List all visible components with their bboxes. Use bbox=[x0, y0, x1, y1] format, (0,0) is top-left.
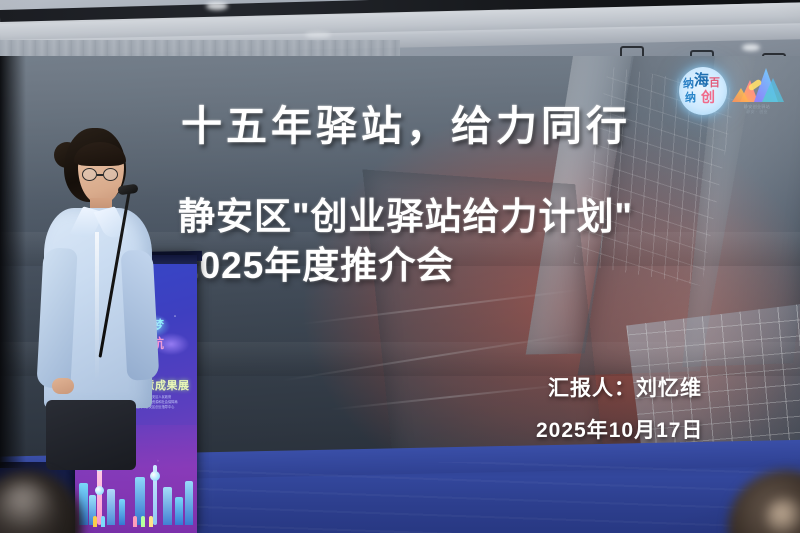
tv-tower-sphere bbox=[95, 486, 104, 495]
city-figure bbox=[141, 516, 145, 527]
trousers bbox=[46, 400, 136, 470]
speaker-person bbox=[18, 128, 158, 468]
slide-presenter-label: 汇报人：刘忆维 bbox=[548, 372, 702, 402]
ceiling bbox=[0, 0, 800, 58]
hainabaichuang-circle-logo: 纳 海 百 纳 创 bbox=[679, 67, 727, 115]
city-building bbox=[163, 487, 172, 525]
city-figure bbox=[93, 516, 97, 527]
circle-logo-chars: 纳 海 百 纳 创 bbox=[679, 67, 727, 115]
mast-sphere bbox=[150, 471, 160, 481]
eyeglasses-bridge bbox=[97, 174, 103, 176]
logo-char-1: 纳 bbox=[683, 79, 694, 90]
right-arm bbox=[121, 249, 160, 380]
city-building bbox=[175, 497, 183, 525]
logo-char-4: 纳 bbox=[685, 93, 696, 104]
microphone-head bbox=[117, 184, 138, 196]
eyeglasses-left-lens bbox=[82, 168, 97, 181]
slide-subtitle-line-2: 2025年度推介会 bbox=[178, 241, 758, 290]
eyeglasses-right-lens bbox=[103, 168, 118, 181]
hand bbox=[52, 378, 74, 394]
logo-char-3: 百 bbox=[709, 78, 720, 89]
city-figure bbox=[101, 516, 105, 527]
logo-caption-secondary: 静安 · 创业 bbox=[728, 109, 786, 115]
audience-head-foreground-right-highlight bbox=[766, 498, 800, 533]
left-edge-shadow bbox=[0, 56, 26, 468]
city-building bbox=[119, 499, 125, 525]
logo-char-2: 海 bbox=[694, 75, 709, 86]
city-figure bbox=[149, 516, 153, 527]
slide-subtitle-line-1: 静安区"创业驿站给力计划" bbox=[178, 192, 758, 241]
city-building bbox=[107, 489, 115, 525]
conference-photo-scene: 十五年驿站，给力同行 静安区"创业驿站给力计划" 2025年度推介会 汇报人：刘… bbox=[0, 0, 800, 533]
jingan-program-logo: 静安创业驿站 静安 · 创业 bbox=[728, 62, 786, 112]
city-figure bbox=[133, 516, 137, 527]
city-building bbox=[185, 481, 193, 525]
slide-subtitle: 静安区"创业驿站给力计划" 2025年度推介会 bbox=[178, 192, 758, 290]
ceiling-light bbox=[305, 32, 331, 38]
ceiling-light bbox=[206, 2, 228, 10]
mountain-people-icon bbox=[728, 62, 786, 104]
shirt-placket bbox=[95, 232, 99, 382]
logo-char-5: 创 bbox=[701, 92, 715, 103]
slide-date-label: 2025年10月17日 bbox=[536, 414, 703, 444]
slide-main-title: 十五年驿站，给力同行 bbox=[181, 92, 701, 152]
ceiling-light bbox=[742, 44, 760, 51]
